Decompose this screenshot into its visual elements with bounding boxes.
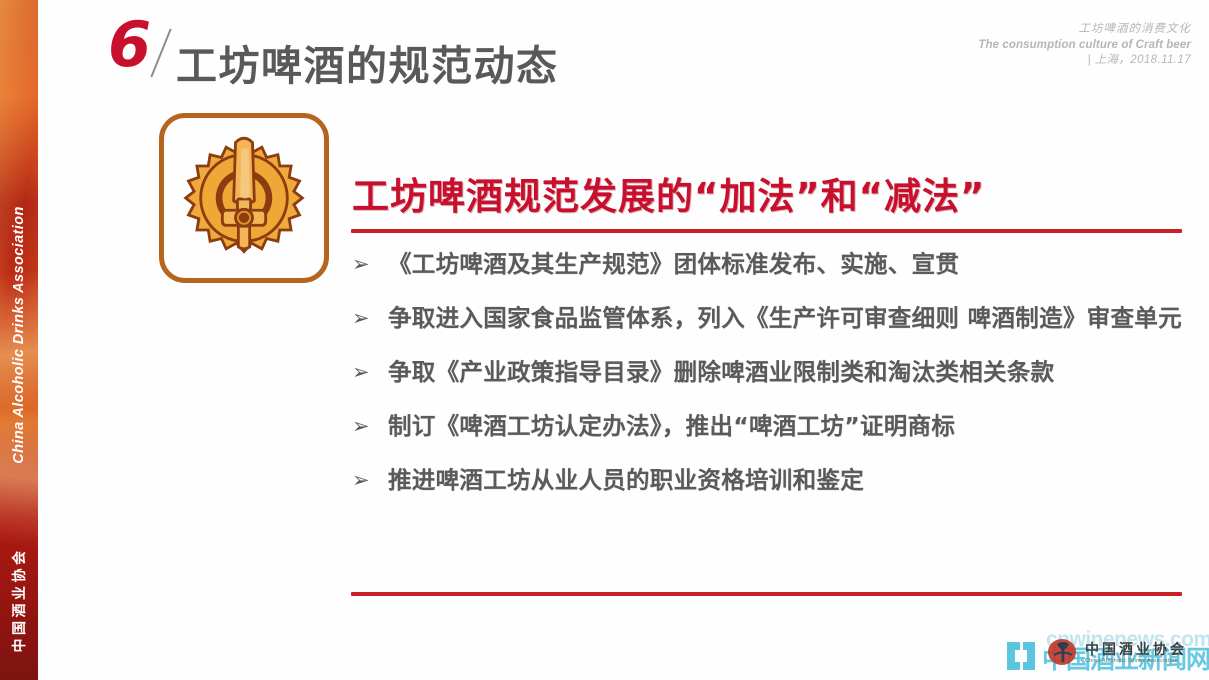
- list-item-text: 《工坊啤酒及其生产规范》团体标准发布、实施、宣贯: [388, 248, 1187, 280]
- list-item-text: 争取进入国家食品监管体系，列入《生产许可审查细则 啤酒制造》审查单元: [388, 302, 1187, 334]
- header-meta-english: The consumption culture of Craft beer: [978, 38, 1191, 54]
- list-item-text: 推进啤酒工坊从业人员的职业资格培训和鉴定: [388, 464, 1187, 496]
- bottle-cap-beer-tap-icon: [159, 113, 329, 283]
- arrow-bullet-icon: ➢: [352, 356, 388, 388]
- sidebar-brand-bar: China Alcoholic Drinks Association 中国酒业协…: [0, 0, 38, 680]
- association-logo: 中国酒业协会 China Alcoholic Drinks Associatio…: [1046, 638, 1187, 668]
- arrow-bullet-icon: ➢: [352, 410, 388, 442]
- sidebar-label-chinese: 中国酒业协会: [9, 548, 29, 653]
- arrow-bullet-icon: ➢: [352, 248, 388, 280]
- slash-divider-icon: [150, 29, 171, 78]
- association-emblem-icon: [1046, 638, 1080, 668]
- list-item: ➢ 争取进入国家食品监管体系，列入《生产许可审查细则 啤酒制造》审查单元: [352, 302, 1187, 334]
- cnwinenews-logo-icon: [1004, 639, 1038, 673]
- association-name-en: China Alcoholic Drinks Association: [1085, 658, 1187, 664]
- sidebar-label-english: China Alcoholic Drinks Association: [11, 206, 27, 463]
- list-item: ➢ 推进啤酒工坊从业人员的职业资格培训和鉴定: [352, 464, 1187, 496]
- association-name-cn: 中国酒业协会: [1085, 642, 1187, 657]
- list-item-text: 争取《产业政策指导目录》删除啤酒业限制类和淘汰类相关条款: [388, 356, 1187, 388]
- list-item-text: 制订《啤酒工坊认定办法》，推出“啤酒工坊”证明商标: [388, 410, 1187, 442]
- arrow-bullet-icon: ➢: [352, 464, 388, 496]
- header-meta-date: | 上海，2018.11.17: [978, 53, 1191, 69]
- header-meta-block: 工坊啤酒的消费文化 The consumption culture of Cra…: [978, 22, 1191, 69]
- slide-number: 6: [108, 14, 149, 76]
- bullet-list: ➢ 《工坊啤酒及其生产规范》团体标准发布、实施、宣贯 ➢ 争取进入国家食品监管体…: [352, 248, 1187, 496]
- list-item: ➢ 《工坊啤酒及其生产规范》团体标准发布、实施、宣贯: [352, 248, 1187, 280]
- arrow-bullet-icon: ➢: [352, 302, 388, 334]
- header-meta-chinese: 工坊啤酒的消费文化: [978, 22, 1191, 38]
- section-heading: 工坊啤酒规范发展的“加法”和“减法”: [352, 166, 985, 220]
- presentation-slide: China Alcoholic Drinks Association 中国酒业协…: [0, 0, 1209, 680]
- divider-rule-top: [351, 229, 1182, 233]
- list-item: ➢ 争取《产业政策指导目录》删除啤酒业限制类和淘汰类相关条款: [352, 356, 1187, 388]
- divider-rule-bottom: [351, 592, 1182, 596]
- page-title: 工坊啤酒的规范动态: [176, 32, 559, 92]
- watermark-overlay: cnwinenews.com 中国酒业新闻网 中国酒业协会 China Alco…: [1000, 626, 1205, 678]
- list-item: ➢ 制订《啤酒工坊认定办法》，推出“啤酒工坊”证明商标: [352, 410, 1187, 442]
